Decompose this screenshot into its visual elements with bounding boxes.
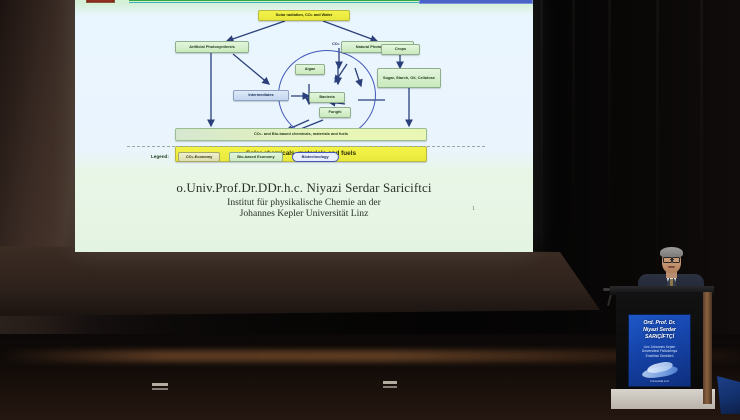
slide-corner-box: bir ornegin Ornekleri Bealistic Definiti… xyxy=(419,0,533,4)
diagram-legend: Legend: CO₂-Economy Bio-based Economy Bi… xyxy=(127,150,485,163)
node-co2-and-bio-based-chemicals: CO₂- and Bio-based chemicals, materials … xyxy=(175,128,427,141)
slide-speaker-name: o.Univ.Prof.Dr.DDr.h.c. Niyazi Serdar Sa… xyxy=(75,180,533,196)
podium-sub-line3: Enstitüsü Direktörü xyxy=(629,354,690,358)
floor-light-speck xyxy=(383,381,397,384)
legend-label: Legend: xyxy=(151,154,169,159)
node-intermediates: Intermediates xyxy=(233,90,289,101)
node-bacteria: Bacteria xyxy=(309,92,345,103)
eyeglasses-icon xyxy=(663,257,680,261)
node-solar-radiation: Solar radiation, CO₂ and Water xyxy=(258,10,350,21)
legend-separator xyxy=(127,146,485,147)
podium-logo-icon: Universität Linz xyxy=(640,361,680,381)
blue-cloth-drape xyxy=(717,376,740,414)
floor-light-speck xyxy=(383,386,397,388)
microphone-head-icon xyxy=(603,288,610,291)
node-fungi: Funghi xyxy=(319,107,351,118)
wooden-post xyxy=(703,292,712,404)
presentation-photo: E-YAKITLARA BILIMSEL BIR BAKIS bir orneg… xyxy=(0,0,740,420)
node-sugar-starch-oil-cellulose: Sugar, Starch, Oil, Cellulose xyxy=(377,68,441,88)
university-crest-icon xyxy=(86,0,115,3)
podium-display-panel: Ord. Prof. Dr. Niyazi Serdar SARIÇİFTÇİ … xyxy=(628,314,691,387)
podium-base xyxy=(611,389,715,409)
floor-light-speck xyxy=(152,383,168,386)
slide-speaker-affiliation-line2: Johannes Kepler Universität Linz xyxy=(75,208,533,219)
podium-name-line3: SARIÇİFTÇİ xyxy=(629,334,690,341)
node-crops: Crops xyxy=(381,44,420,55)
podium-speaker-name: Ord. Prof. Dr. Niyazi Serdar SARIÇİFTÇİ xyxy=(629,320,690,341)
corner-box-line2: Bealistic Definitions xyxy=(498,0,527,1)
speaker-mouth xyxy=(668,266,675,268)
podium-speaker-affiliation: Linz Johannes Kepler Üniversitesi Fiziko… xyxy=(629,345,690,358)
podium-name-line2: Niyazi Serdar xyxy=(629,327,690,334)
node-artificial-photosynthesis: Artificial Photosynthesis xyxy=(175,41,249,53)
podium-logo-text: Universität Linz xyxy=(640,379,680,383)
floor-light-speck xyxy=(152,388,168,390)
slide-speaker-block: o.Univ.Prof.Dr.DDr.h.c. Niyazi Serdar Sa… xyxy=(75,180,533,219)
legend-item-biotechnology: Biotechnology xyxy=(292,152,339,162)
slide: E-YAKITLARA BILIMSEL BIR BAKIS bir orneg… xyxy=(75,0,533,252)
node-algae: Algae xyxy=(295,64,325,75)
projection-screen: E-YAKITLARA BILIMSEL BIR BAKIS bir orneg… xyxy=(75,0,533,252)
legend-item-bio-based-economy: Bio-based Economy xyxy=(229,152,282,162)
label-co2: CO₂ xyxy=(332,41,340,46)
podium-name-line1: Ord. Prof. Dr. xyxy=(629,320,690,327)
slide-speaker-affiliation-line1: Institut für physikalische Chemie an der xyxy=(75,197,533,208)
legend-item-co2-economy: CO₂-Economy xyxy=(178,152,220,162)
slide-page-mark: 1 xyxy=(472,206,475,212)
